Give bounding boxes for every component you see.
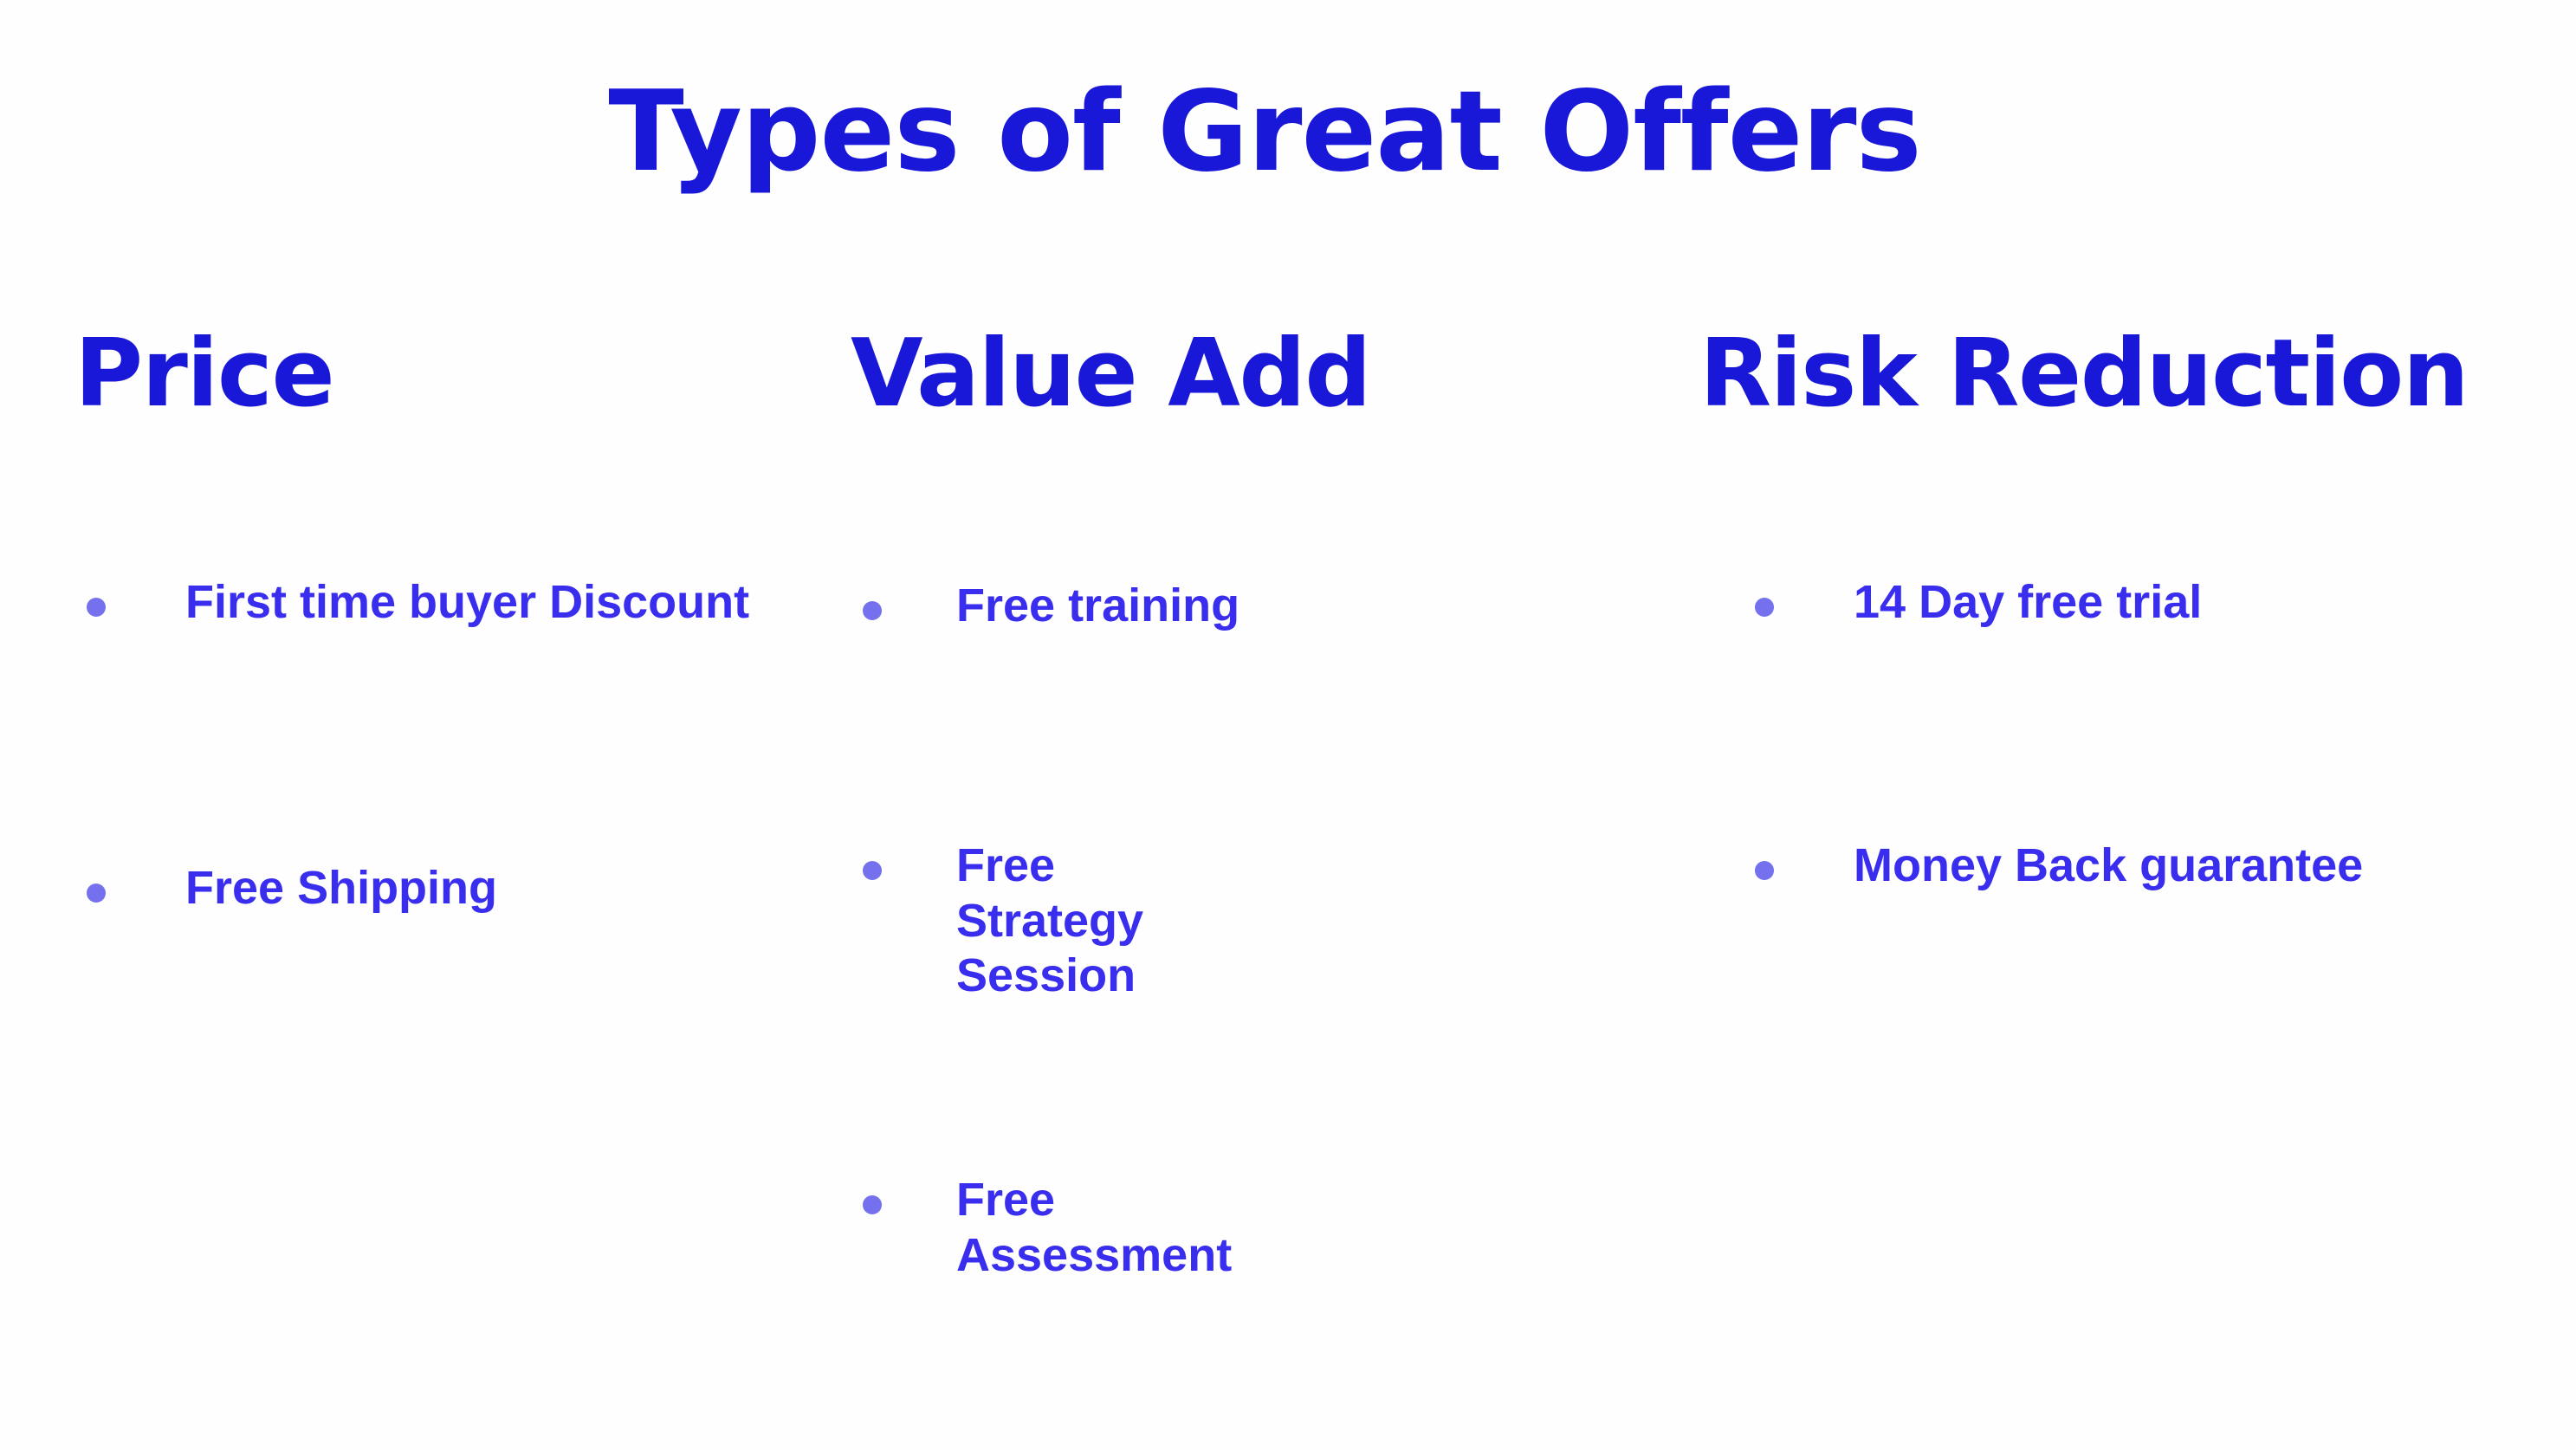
bullet-dot-icon [1755,598,1774,617]
column-heading-price: Price [74,324,333,425]
column-heading-value-add: Value Add [851,324,1370,425]
bullet-dot-icon [863,1195,882,1214]
slide-canvas: Types of Great Offers Price First time b… [0,0,2576,1450]
list-item-label: Free Strategy Session [956,838,1242,1004]
list-item-label: Free Assessment [956,1173,1242,1283]
list-item[interactable]: 14 Day free trial [1699,575,2460,631]
column-heading-risk-reduction: Risk Reduction [1699,324,2468,425]
list-item-label: Free Shipping [185,861,792,916]
list-item[interactable]: Free Strategy Session [851,838,1242,1004]
bullet-dot-icon [863,601,882,620]
list-item[interactable]: Free training [851,579,1242,634]
list-item-label: Money Back guarantee [1854,838,2460,894]
list-item-label: First time buyer Discount [185,575,792,631]
page-title: Types of Great Offers [0,74,2529,191]
bullet-dot-icon [87,884,106,903]
list-item-label: Free training [956,579,1242,634]
bullet-dot-icon [87,598,106,617]
bullet-dot-icon [863,861,882,880]
list-item[interactable]: First time buyer Discount [74,575,792,631]
list-item-label: 14 Day free trial [1854,575,2460,631]
list-item[interactable]: Free Shipping [74,861,792,916]
list-item[interactable]: Free Assessment [851,1173,1242,1283]
bullet-dot-icon [1755,861,1774,880]
list-item[interactable]: Money Back guarantee [1699,838,2460,894]
